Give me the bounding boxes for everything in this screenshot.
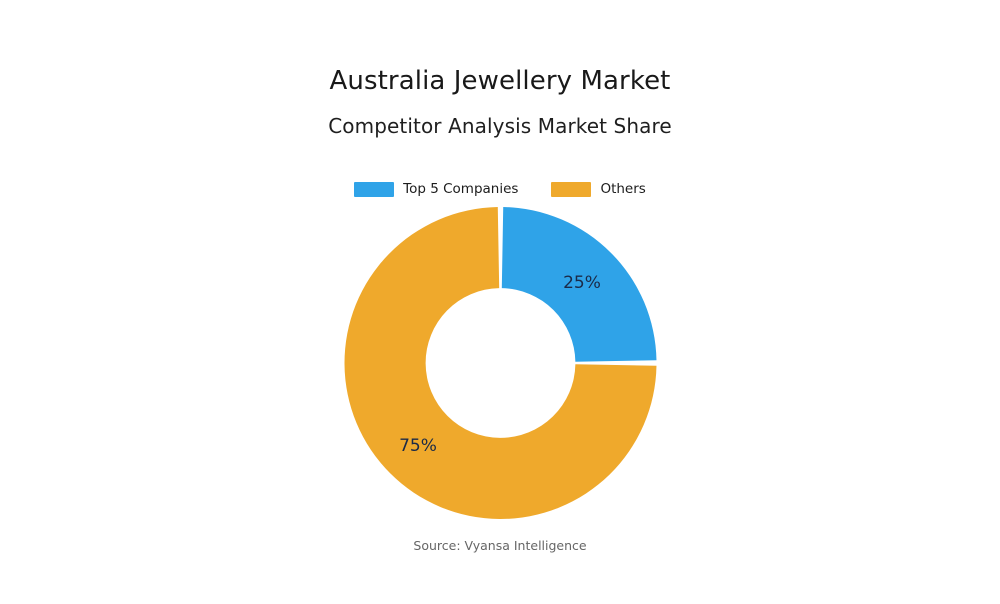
donut-chart: 25% 75% bbox=[0, 0, 1000, 600]
chart-canvas: Australia Jewellery Market Competitor An… bbox=[0, 0, 1000, 600]
donut-slice[interactable] bbox=[502, 207, 657, 362]
donut-chart-svg bbox=[0, 0, 1000, 600]
source-note: Source: Vyansa Intelligence bbox=[0, 538, 1000, 553]
